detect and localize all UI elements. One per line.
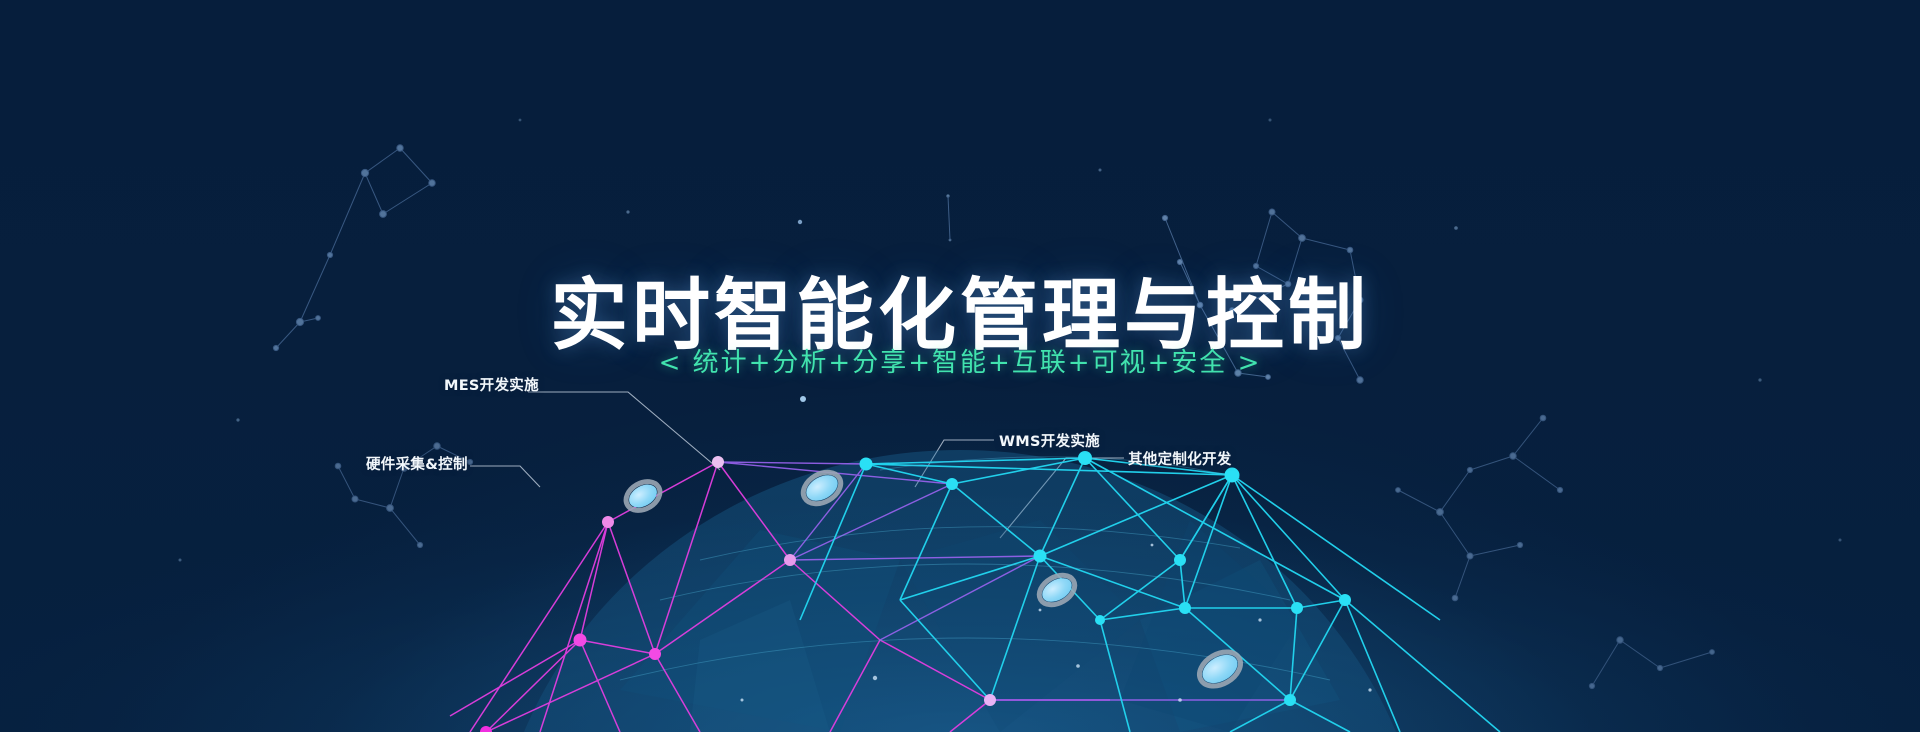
- callout-label-other: 其他定制化开发: [1128, 448, 1232, 469]
- hero-subtitle: < 统计+分析+分享+智能+互联+可视+安全 >: [659, 342, 1262, 379]
- hero-subtitle-block: < 统计+分析+分享+智能+互联+可视+安全 >: [0, 342, 1920, 379]
- hero-banner: 实时智能化管理与控制 < 统计+分析+分享+智能+互联+可视+安全 > MES开…: [0, 0, 1920, 732]
- callout-label-hardware: 硬件采集&控制: [366, 453, 468, 474]
- callout-label-mes: MES开发实施: [444, 374, 539, 395]
- callout-label-wms: WMS开发实施: [999, 430, 1100, 451]
- location-marker-hw: [621, 476, 665, 517]
